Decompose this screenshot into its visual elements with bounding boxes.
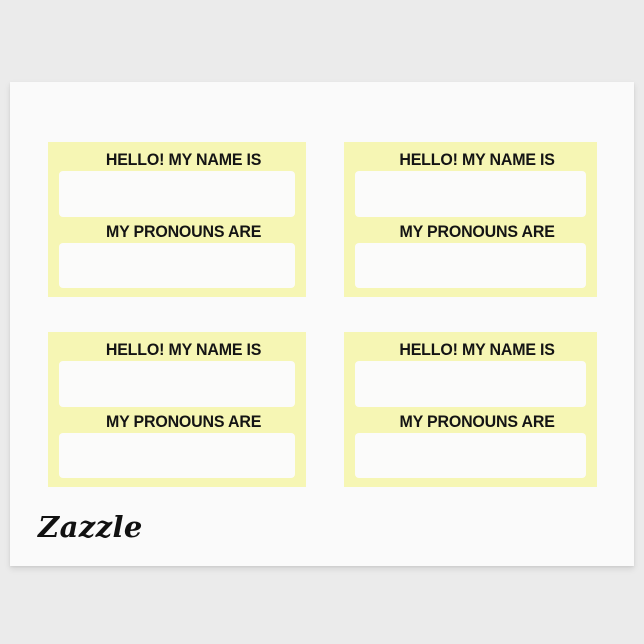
name-write-in-field[interactable] (355, 171, 586, 217)
name-write-in-field[interactable] (59, 171, 295, 217)
sticker-top-right[interactable]: HELLO! MY NAME IS MY PRONOUNS ARE (344, 142, 597, 297)
sticker-bottom-left[interactable]: HELLO! MY NAME IS MY PRONOUNS ARE (48, 332, 306, 487)
zazzle-brand-logo: Zazzle (38, 513, 143, 542)
name-write-in-field[interactable] (59, 361, 295, 407)
name-label: HELLO! MY NAME IS (66, 151, 288, 168)
sticker-sheet: HELLO! MY NAME IS MY PRONOUNS ARE HELLO!… (10, 82, 634, 566)
pronouns-write-in-field[interactable] (355, 243, 586, 289)
name-label: HELLO! MY NAME IS (362, 341, 579, 358)
pronouns-label: MY PRONOUNS ARE (362, 413, 579, 430)
pronouns-label: MY PRONOUNS ARE (66, 223, 288, 240)
name-write-in-field[interactable] (355, 361, 586, 407)
pronouns-label: MY PRONOUNS ARE (362, 223, 579, 240)
name-label: HELLO! MY NAME IS (362, 151, 579, 168)
pronouns-write-in-field[interactable] (59, 243, 295, 289)
product-preview-stage: HELLO! MY NAME IS MY PRONOUNS ARE HELLO!… (0, 0, 644, 644)
sticker-content: HELLO! MY NAME IS MY PRONOUNS ARE (344, 332, 597, 487)
pronouns-write-in-field[interactable] (59, 433, 295, 479)
pronouns-write-in-field[interactable] (355, 433, 586, 479)
sticker-grid: HELLO! MY NAME IS MY PRONOUNS ARE HELLO!… (48, 142, 597, 487)
sticker-bottom-right[interactable]: HELLO! MY NAME IS MY PRONOUNS ARE (344, 332, 597, 487)
name-label: HELLO! MY NAME IS (66, 341, 288, 358)
pronouns-label: MY PRONOUNS ARE (66, 413, 288, 430)
sticker-top-left[interactable]: HELLO! MY NAME IS MY PRONOUNS ARE (48, 142, 306, 297)
sticker-content: HELLO! MY NAME IS MY PRONOUNS ARE (48, 332, 306, 487)
sticker-content: HELLO! MY NAME IS MY PRONOUNS ARE (344, 142, 597, 297)
sticker-content: HELLO! MY NAME IS MY PRONOUNS ARE (48, 142, 306, 297)
